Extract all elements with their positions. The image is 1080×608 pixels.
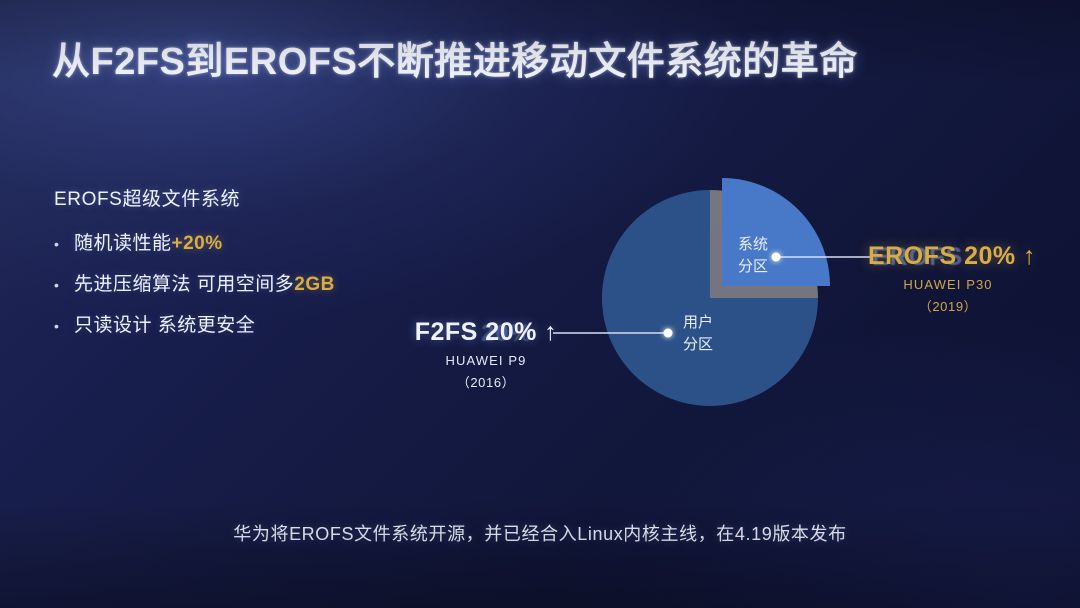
bullet-highlight: +20% [172, 233, 223, 254]
slide-canvas: 从F2FS到EROFS不断推进移动文件系统的革命 EROFS超级文件系统 随机读… [0, 0, 1080, 608]
page-title: 从F2FS到EROFS不断推进移动文件系统的革命 [52, 30, 858, 85]
section-heading: EROFS超级文件系统 [54, 184, 240, 211]
bullet-dot-icon [54, 278, 74, 292]
callout-erofs: EROFS 20% ↑ HUAWEI P30 （2019） [868, 242, 1028, 315]
bullet-highlight: 2GB [294, 274, 335, 295]
list-item: 随机读性能+20% [54, 228, 474, 269]
bullet-text: 只读设计 系统更安全 [74, 310, 255, 337]
callout-headline: EROFS 20% ↑ [868, 242, 1028, 271]
footer-caption: 华为将EROFS文件系统开源，并已经合入Linux内核主线，在4.19版本发布 [0, 520, 1080, 546]
leader-dot-user [664, 329, 673, 338]
bullet-text-prefix: 先进压缩算法 可用空间多 [74, 274, 294, 295]
bullet-text: 先进压缩算法 可用空间多2GB [74, 269, 335, 296]
partition-pie-chart: 系统分区 用户分区 [575, 175, 835, 430]
callout-year: （2019） [868, 296, 1028, 315]
bullet-list: 随机读性能+20% 先进压缩算法 可用空间多2GB 只读设计 系统更安全 [54, 228, 474, 351]
bullet-text: 随机读性能+20% [74, 228, 223, 255]
callout-device: HUAWEI P9 [412, 353, 560, 368]
leader-dot-system [772, 253, 781, 262]
bullet-dot-icon [54, 319, 74, 333]
callout-device: HUAWEI P30 [868, 277, 1028, 292]
bullet-dot-icon [54, 237, 74, 251]
callout-headline: F2FS 20% ↑ [412, 318, 560, 347]
callout-year: （2016） [412, 372, 560, 391]
list-item: 先进压缩算法 可用空间多2GB [54, 269, 474, 310]
list-item: 只读设计 系统更安全 [54, 310, 474, 351]
bullet-text-prefix: 随机读性能 [74, 233, 172, 254]
bullet-text-prefix: 只读设计 系统更安全 [74, 315, 255, 336]
callout-f2fs: F2FS 20% ↑ HUAWEI P9 （2016） [412, 318, 560, 391]
